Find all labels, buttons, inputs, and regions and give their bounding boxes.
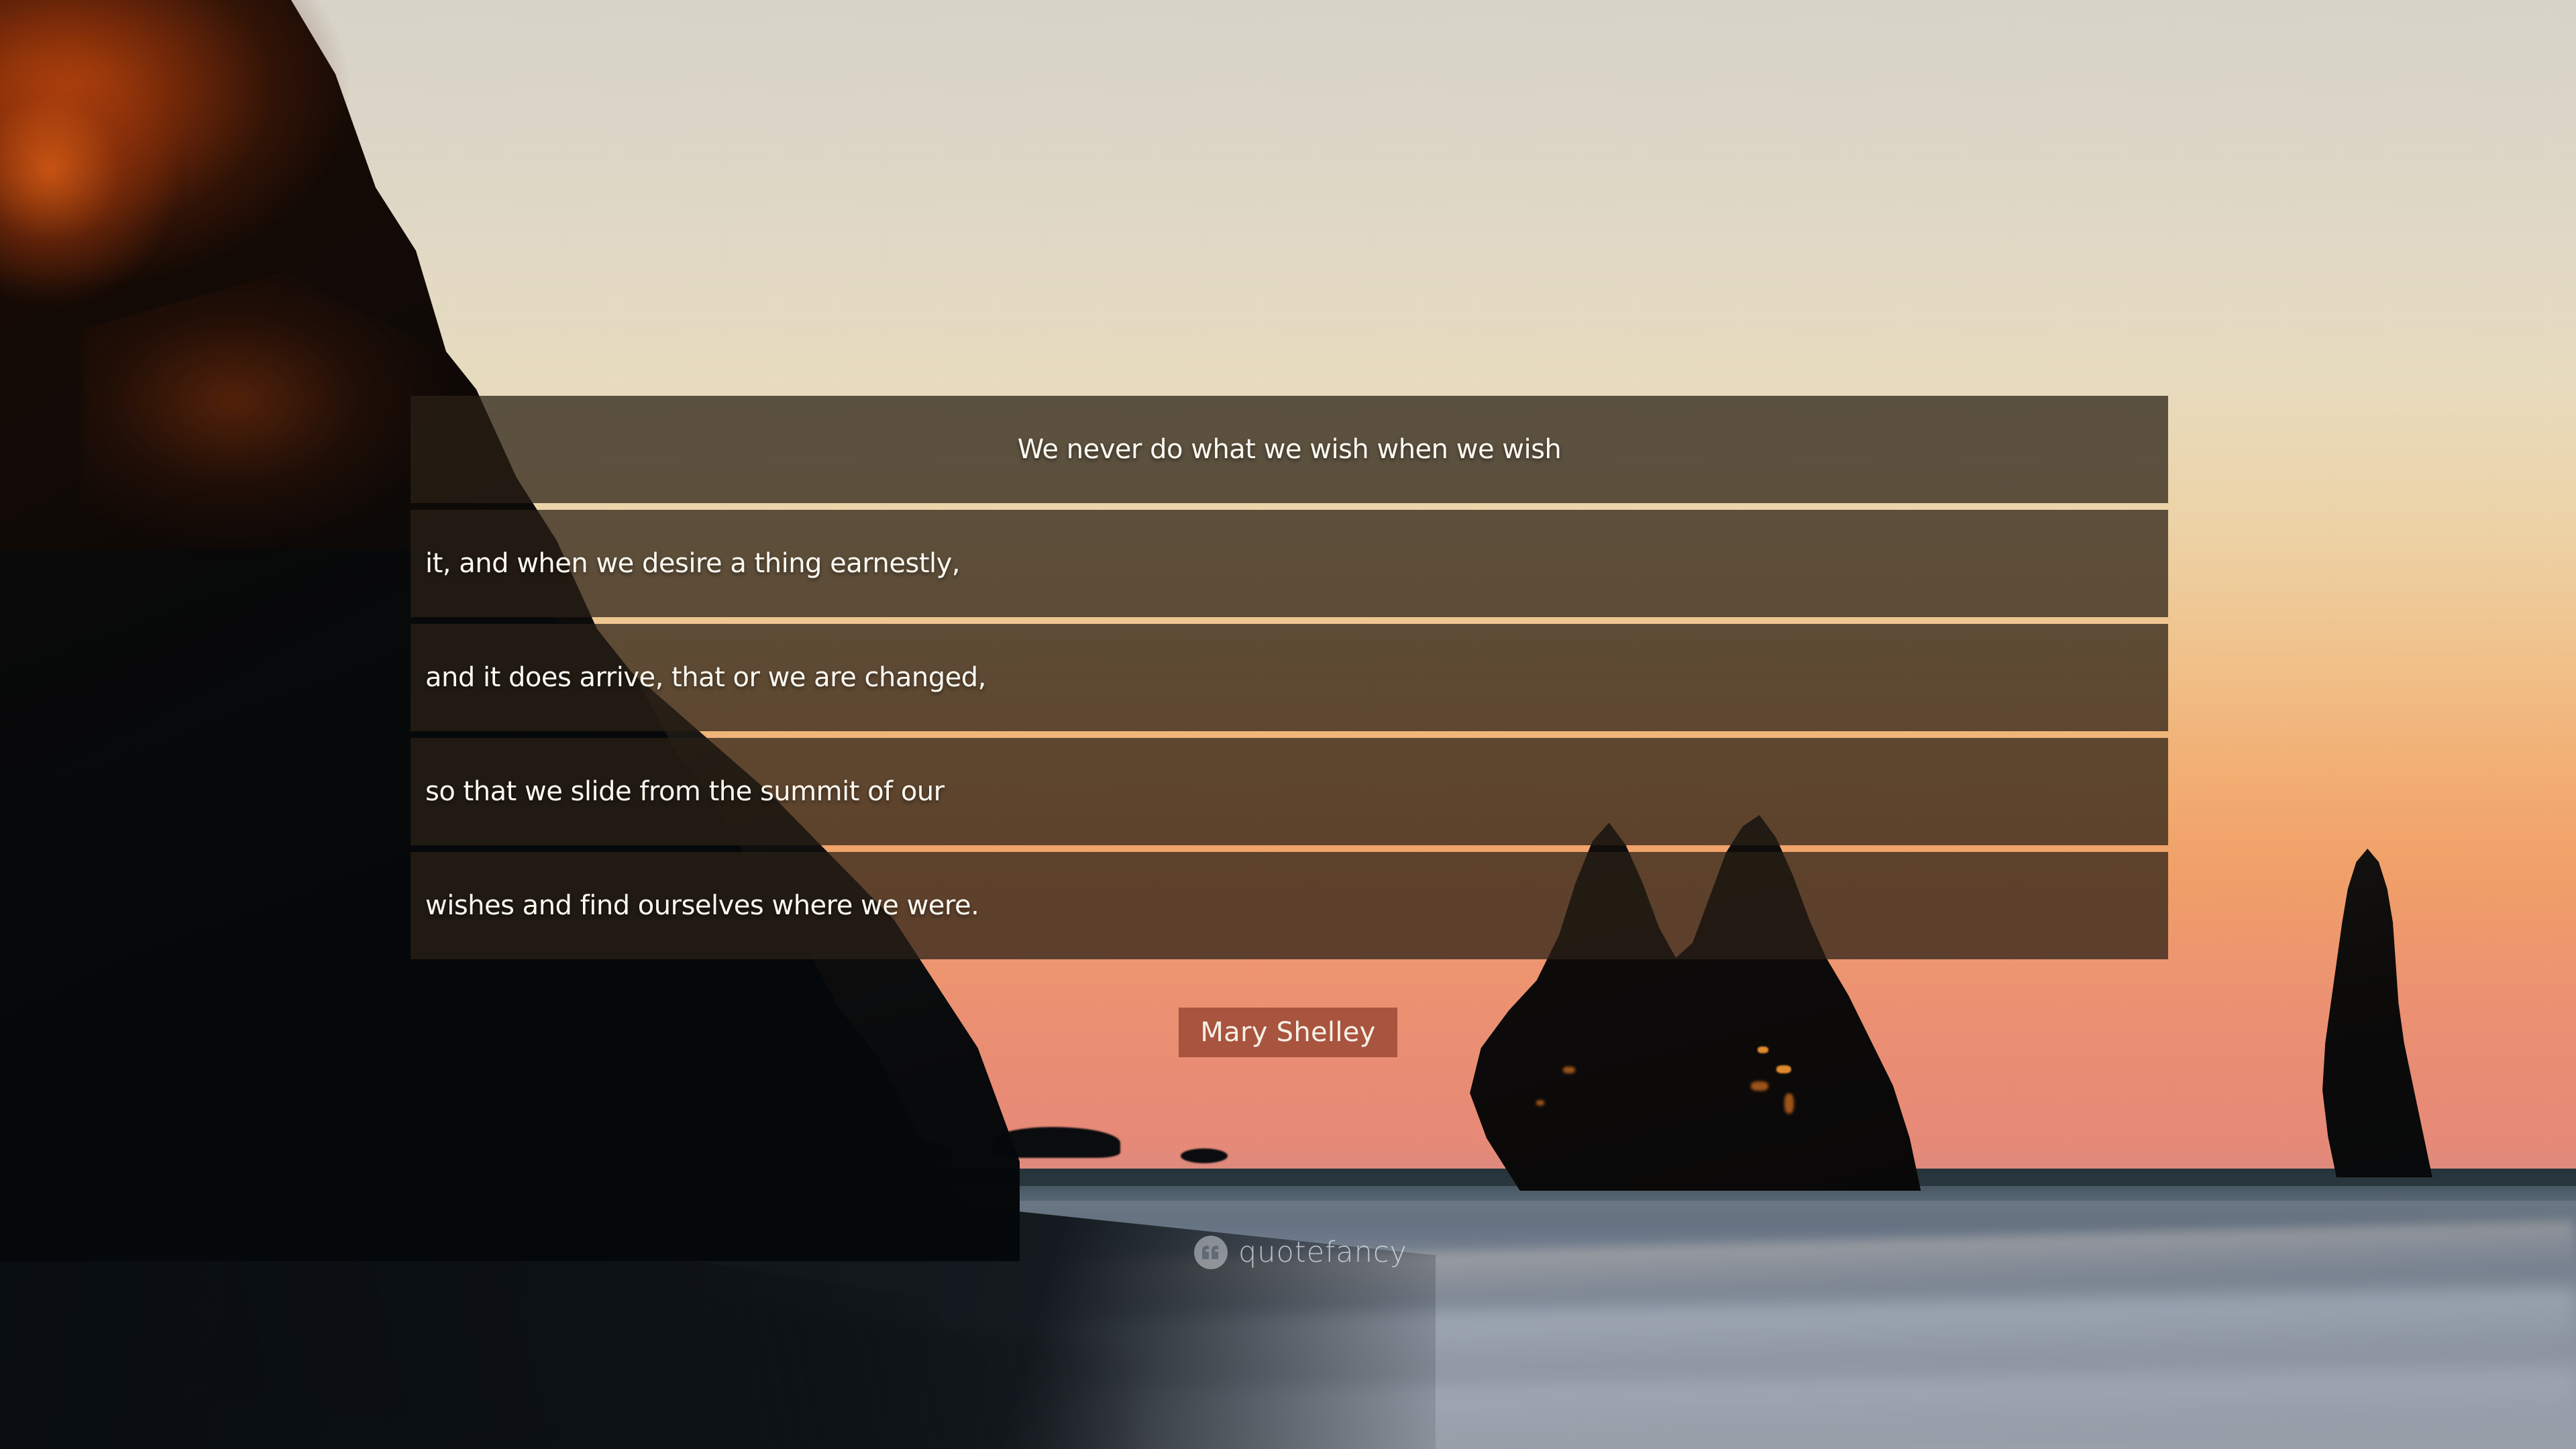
quote-line-text: wishes and find ourselves where we were. (411, 852, 2168, 959)
quote-line-text: it, and when we desire a thing earnestly… (411, 510, 2168, 617)
quote-line-text: and it does arrive, that or we are chang… (411, 624, 2168, 731)
quote-line: so that we slide from the summit of our (411, 738, 2168, 845)
quote-line-text: We never do what we wish when we wish (411, 396, 2168, 503)
quote-line-text: so that we slide from the summit of our (411, 738, 2168, 845)
quote-wallpaper: We never do what we wish when we wish it… (0, 0, 2576, 1449)
rock-highlight-speck (1751, 1081, 1768, 1091)
rock-highlight-speck (1536, 1100, 1544, 1106)
rock-highlight-speck (1784, 1093, 1794, 1114)
quote-text-block: We never do what we wish when we wish it… (411, 396, 2168, 959)
quote-line: We never do what we wish when we wish (411, 396, 2168, 503)
author-name: Mary Shelley (1200, 1017, 1375, 1048)
author-badge: Mary Shelley (1179, 1008, 1397, 1057)
small-rock (1181, 1148, 1228, 1163)
quote-line: and it does arrive, that or we are chang… (411, 624, 2168, 731)
rock-highlight-speck (1776, 1065, 1791, 1073)
quote-mark-icon (1194, 1236, 1228, 1269)
quote-line: it, and when we desire a thing earnestly… (411, 510, 2168, 617)
rock-highlight-speck (1758, 1046, 1768, 1053)
quote-line: wishes and find ourselves where we were. (411, 852, 2168, 959)
rock-highlight-speck (1563, 1067, 1575, 1073)
watermark-brand: quotefancy (1238, 1236, 1407, 1269)
watermark[interactable]: quotefancy (1194, 1233, 1407, 1272)
